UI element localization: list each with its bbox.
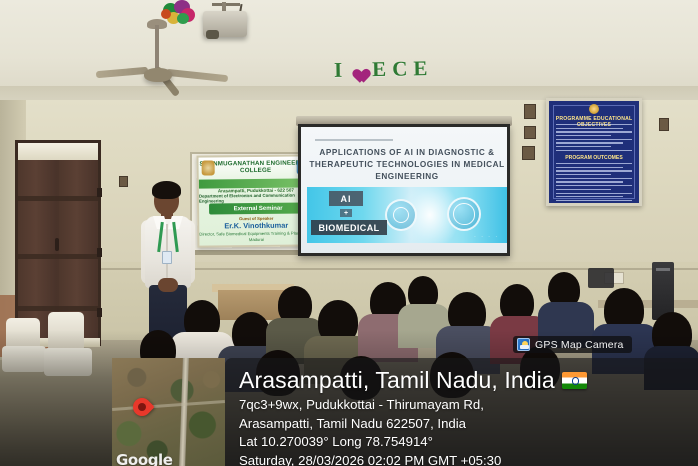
ceiling-fan-icon [144, 68, 172, 82]
photograph: I E C E SHANMUGANATHAN ENGINEERING COLLE… [0, 0, 698, 466]
slide-footer-dots: · · · · [474, 234, 499, 240]
gps-map-camera-watermark: GPS Map Camera [513, 336, 632, 353]
banner-event-title: External Seminar [234, 205, 283, 212]
wall-frame [522, 146, 535, 160]
banner-department: Department of Electronics and Communicat… [199, 192, 313, 203]
presenter-hands [158, 278, 178, 292]
slide-badge-plus: + [340, 209, 352, 217]
chair-seat [44, 348, 92, 376]
college-logo-icon [202, 160, 215, 175]
gps-map-camera-icon [517, 338, 530, 351]
slide-badge-biomedical: BIOMEDICAL [311, 220, 387, 235]
map-road-secondary [112, 400, 225, 411]
google-attribution: Google [116, 451, 173, 466]
projector-arm [212, 3, 240, 6]
wall-sign-i-love-ece: I E C E [334, 56, 429, 83]
projection-screen: APPLICATIONS OF AI IN DIAGNOSTIC & THERA… [298, 124, 510, 256]
slide-badge-ai: AI [329, 191, 363, 206]
door-transom-window [18, 143, 98, 160]
wall-frame [524, 126, 536, 139]
gps-details-panel: Arasampatti, Tamil Nadu, India 7qc3+9wx,… [225, 358, 698, 466]
door-hinge-icon [97, 308, 102, 317]
gps-address-line-1: 7qc3+9wx, Pudukkottai - Thirumayam Rd, [239, 396, 686, 414]
gps-place-name: Arasampatti, Tamil Nadu, India [239, 368, 555, 392]
gps-map-camera-label: GPS Map Camera [535, 339, 624, 351]
door-handle-icon[interactable] [55, 238, 59, 251]
notice-board: PROGRAMME EDUCATIONAL OBJECTIVES PROGRAM… [546, 98, 642, 206]
gps-address-line-2: Arasampatti, Tamil Nadu 622507, India [239, 415, 686, 433]
wall-frame [524, 104, 536, 119]
presenter-hair [152, 181, 181, 199]
heart-icon [349, 62, 366, 78]
slide-badge-plus-label: + [344, 210, 348, 217]
door-rail [18, 196, 98, 201]
slide-badge-biomedical-label: BIOMEDICAL [319, 223, 380, 233]
door-rail [18, 306, 98, 311]
computer-tower-panel [656, 268, 670, 271]
notice-board-text-block-2 [556, 163, 632, 206]
banner-speaker-name: Er.K. Vinothkumar [199, 220, 313, 230]
banner-event-pill: External Seminar [209, 202, 307, 214]
gps-info-overlay: Google Arasampatti, Tamil Nadu, India 7q… [112, 358, 698, 466]
map-pin-icon [129, 394, 154, 419]
india-flag-icon [562, 372, 587, 389]
stethoscope-icon [393, 207, 409, 223]
ece-sign-letter: E [372, 57, 387, 82]
projection-screen-surface: APPLICATIONS OF AI IN DIAGNOSTIC & THERA… [301, 127, 507, 253]
fan-rod [155, 25, 159, 72]
presenter-id-badge [162, 251, 172, 264]
brain-icon [453, 203, 475, 225]
notice-board-text-block-1 [556, 124, 632, 154]
gps-timestamp: Saturday, 28/03/2026 02:02 PM GMT +05:30 [239, 452, 686, 466]
slide-image: AI + BIOMEDICAL · · · · [307, 187, 507, 243]
banner-college-name: SHANMUGANATHAN ENGINEERING COLLEGE [199, 160, 313, 175]
wall-frame [119, 176, 128, 187]
notice-board-logo-icon [589, 104, 599, 114]
slide-badge-ai-label: AI [341, 194, 352, 204]
banner-speaker-role: Director, Safe Biomedical Equipments Tra… [199, 230, 313, 243]
gps-place-row: Arasampatti, Tamil Nadu, India [239, 368, 686, 392]
banner-header: SHANMUGANATHAN ENGINEERING COLLEGE [199, 156, 313, 179]
wall-frame [659, 118, 669, 131]
ece-sign-letter: I [334, 58, 344, 83]
slide-rule-line [315, 139, 393, 141]
map-thumbnail[interactable]: Google [112, 358, 225, 466]
ece-sign-letter: C [392, 57, 409, 82]
hanging-decoration-icon [161, 0, 197, 26]
slide-title: APPLICATIONS OF AI IN DIAGNOSTIC & THERA… [309, 147, 505, 183]
monitor [588, 268, 614, 288]
door-hinge-icon [97, 248, 102, 257]
chair-seat [2, 346, 46, 372]
door-rail [18, 254, 98, 259]
projector-lens-icon [206, 30, 219, 39]
notice-board-heading-2: PROGRAM OUTCOMES [549, 155, 639, 161]
gps-coordinates: Lat 10.270039° Long 78.754914° [239, 433, 686, 451]
ece-sign-letter: E [413, 56, 428, 81]
banner-department-bar: Department of Electronics and Communicat… [199, 193, 313, 201]
map-road [179, 358, 189, 466]
chair-backrest [48, 312, 84, 352]
door-hinge-icon [97, 188, 102, 197]
